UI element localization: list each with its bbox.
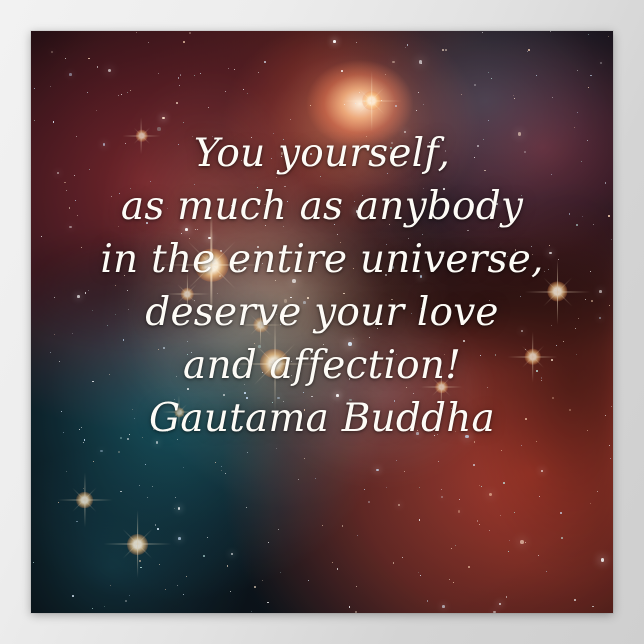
quote-author: Gautama Buddha — [31, 392, 613, 445]
quote-line-2: as much as anybody — [31, 180, 613, 233]
poster-artwork[interactable]: You yourself, as much as anybody in the … — [31, 31, 613, 613]
poster-canvas: You yourself, as much as anybody in the … — [0, 0, 644, 644]
quote-block: You yourself, as much as anybody in the … — [31, 127, 613, 445]
quote-line-1: You yourself, — [31, 127, 613, 180]
quote-line-5: and affection! — [31, 339, 613, 392]
quote-line-3: in the entire universe, — [31, 233, 613, 286]
quote-line-4: deserve your love — [31, 286, 613, 339]
